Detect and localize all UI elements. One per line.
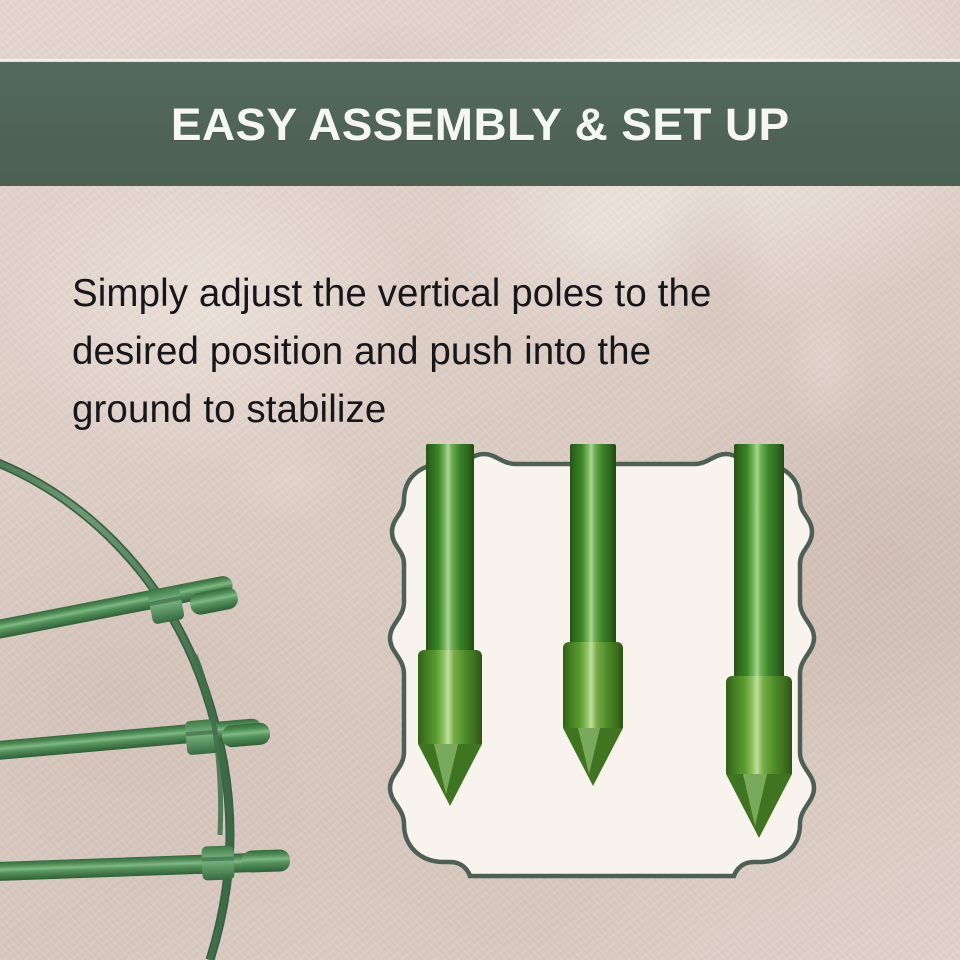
cage-rod-1 — [0, 574, 240, 647]
infographic-canvas: EASY ASSEMBLY & SET UP Simply adjust the… — [0, 0, 960, 960]
cage-connector-clip-3 — [201, 845, 234, 880]
header-banner: EASY ASSEMBLY & SET UP — [0, 62, 960, 186]
scalloped-frame-outline — [390, 454, 814, 876]
cage-rod-3 — [0, 849, 290, 882]
instruction-line-3: ground to stabilize — [72, 381, 832, 439]
plant-support-cage-photo — [0, 440, 350, 960]
product-photo-frame — [338, 452, 866, 890]
cage-connector-clip-1 — [147, 585, 185, 624]
instruction-text: Simply adjust the vertical poles to the … — [72, 265, 832, 439]
instruction-line-1: Simply adjust the vertical poles to the — [72, 265, 832, 323]
cage-rod-2 — [0, 718, 271, 764]
instruction-line-2: desired position and push into the — [72, 323, 832, 381]
cage-hoop-ring — [0, 450, 230, 960]
page-title: EASY ASSEMBLY & SET UP — [171, 102, 790, 147]
